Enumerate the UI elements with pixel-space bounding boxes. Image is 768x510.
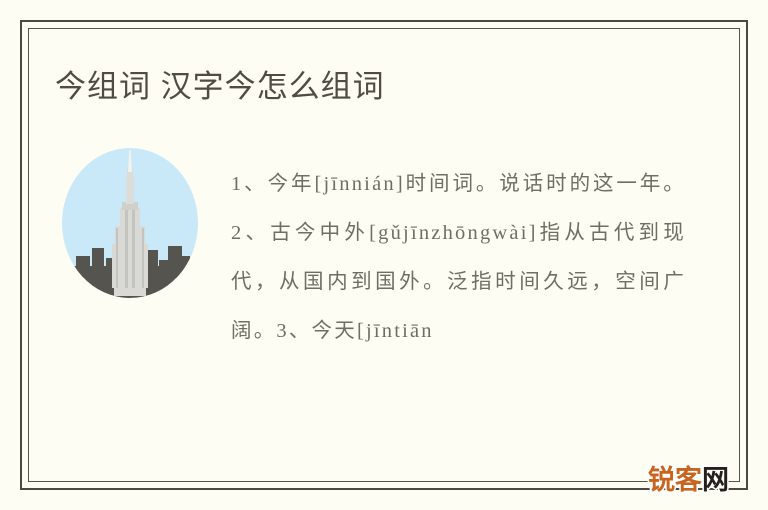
article-illustration: [62, 148, 198, 298]
page-content: 今组词 汉字今怎么组词: [0, 0, 768, 510]
watermark-text-primary: 锐客: [648, 465, 702, 496]
page-title: 今组词 汉字今怎么组词: [55, 66, 385, 108]
illustration-circle-background: [62, 148, 198, 298]
article-body-text: 1、今年[jīnnián]时间词。说话时的这一年。2、古今中外[gǔjīnzhō…: [231, 160, 686, 405]
watermark-text-secondary: 网: [702, 465, 729, 496]
site-watermark: 锐客网: [648, 466, 729, 496]
empire-state-building-icon: [62, 148, 198, 298]
article-page: 今组词 汉字今怎么组词: [0, 0, 768, 510]
